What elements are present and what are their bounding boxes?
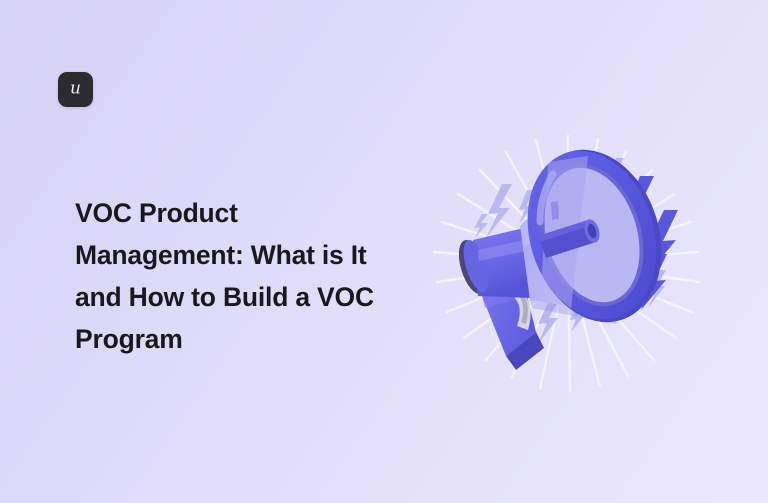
- brand-logo[interactable]: u: [58, 72, 93, 107]
- megaphone-rear: [453, 228, 532, 298]
- megaphone-illustration: [420, 118, 712, 410]
- hero-banner: u VOC Product Management: What is It and…: [0, 0, 768, 503]
- page-title: VOC Product Management: What is It and H…: [75, 192, 395, 360]
- brand-logo-glyph: u: [70, 81, 81, 98]
